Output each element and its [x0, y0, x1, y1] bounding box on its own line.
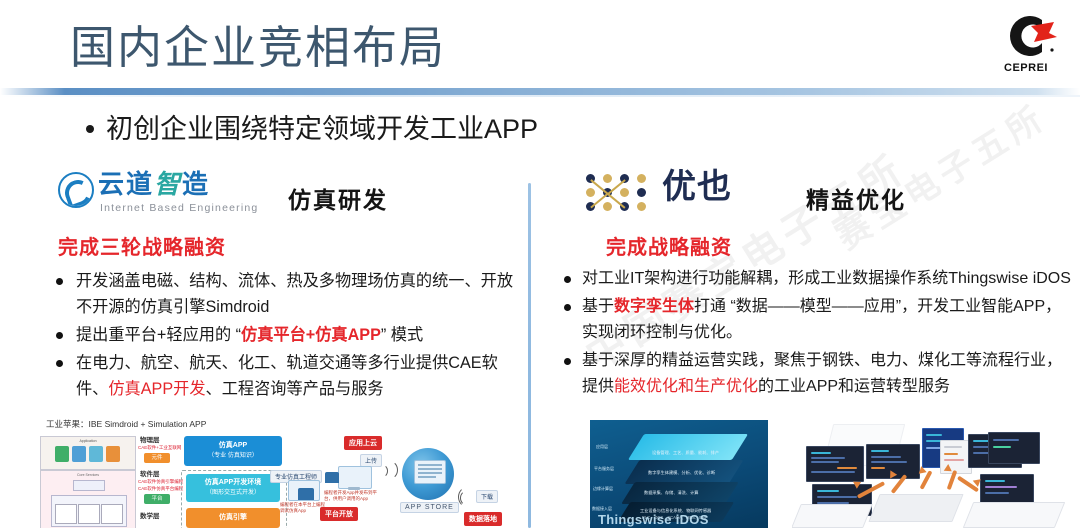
bullet-text: ” 模式: [381, 326, 423, 344]
simdroid-layer-label: 数学层: [140, 510, 160, 520]
dash-base-plate: [868, 494, 963, 522]
cloud-globe-screen: [414, 460, 446, 484]
dash-base-plate: [792, 504, 873, 528]
right-funding-label: 完成战略融资: [606, 231, 732, 260]
simdroid-box-sub: （图形交互式开发）: [206, 489, 260, 498]
yundao-wordmark: 云道智造: [98, 170, 210, 200]
yundao-tagline: Internet Based Engineering: [100, 202, 258, 214]
yundao-name-part3: 造: [182, 170, 210, 200]
cloud-laptop: [325, 472, 339, 483]
cloud-label-appstore: APP STORE: [400, 502, 459, 513]
highlight-text: 仿真APP开发: [108, 380, 205, 398]
bullet-text: 的工业APP和运营转型服务: [758, 378, 950, 395]
app-chip: [55, 446, 69, 462]
simdroid-box-engine: 仿真引擎: [186, 508, 280, 528]
flow-arrow-icon: [944, 464, 952, 472]
logo-dot: [603, 202, 612, 211]
figure-idos-stack: 应用层 平台服务层 边缘计算层 数据接入层 设备管理、工艺、质量、能耗、排产 数…: [590, 420, 768, 528]
simdroid-chip-component: 元件: [144, 453, 170, 463]
simdroid-core-panel: Core Services: [40, 470, 136, 528]
bullet-dot-icon: [86, 125, 94, 133]
page-title: 国内企业竞相布局: [70, 18, 446, 78]
simdroid-box-devenv: 仿真APP开发环境 （图形交互式开发）: [186, 474, 280, 502]
highlight-text: 数字孪生体: [614, 298, 694, 315]
simdroid-note: CAE软件仿真引擎编程: [138, 479, 183, 485]
lead-bullet-text: 初创企业围绕特定领域开发工业APP: [106, 114, 538, 144]
bullet-item: 对工业IT架构进行功能解耦，形成工业数据操作系统Thingswise iDOS: [556, 266, 1074, 292]
logo-dot: [637, 202, 646, 211]
simdroid-note: CAE软件+工业互联网: [138, 445, 181, 451]
cloud-monitor: [338, 466, 372, 489]
youye-logo: 优也: [584, 168, 774, 216]
bullet-text: 提出重平台+轻应用的 “: [76, 326, 241, 344]
simdroid-layer-label: 软件层: [140, 468, 160, 478]
dot-grid-icon: [584, 172, 656, 212]
logo-dot: [637, 188, 646, 197]
simdroid-layer-label: 物理层: [140, 434, 160, 444]
ceprei-wordmark: CEPREI: [990, 62, 1062, 74]
simdroid-box-sub: （专业 仿真知识）: [208, 452, 258, 461]
simdroid-box-title: 仿真APP: [219, 441, 247, 452]
highlight-text: 仿真平台+仿真APP: [241, 326, 381, 344]
idos-layer-items: 数据采集、存储、清洗、计算: [644, 490, 698, 496]
right-column: 优也 精益优化 完成战略融资 对工业IT架构进行功能解耦，形成工业数据操作系统T…: [556, 168, 1074, 222]
idos-layer-1: [628, 434, 748, 460]
left-funding-label: 完成三轮战略融资: [58, 231, 226, 260]
youye-wordmark: 优也: [662, 164, 732, 210]
bullet-item: 提出重平台+轻应用的 “仿真平台+仿真APP” 模式: [48, 322, 518, 348]
yundao-name-part2: 智: [154, 170, 182, 200]
logo-dot: [620, 188, 629, 197]
idos-caption: Thingswise iDOS: [598, 512, 709, 527]
bullet-item: 开发涵盖电磁、结构、流体、热及多物理场仿真的统一、开放不开源的仿真引擎Simdr…: [48, 268, 518, 320]
app-chip: [106, 446, 120, 462]
slide-root: 中国赛宝电子五所 赛宝电子五所 国内企业竞相布局 CEPREI 初创企业围绕特定…: [0, 0, 1080, 528]
bullet-text: 对工业IT架构进行功能解耦，形成工业数据操作系统Thingswise iDOS: [582, 270, 1071, 287]
bullet-text: 、工程咨询等产品与服务: [206, 380, 384, 398]
bullet-text: 开发涵盖电磁、结构、流体、热及多物理场仿真的统一、开放不开源的仿真引擎Simdr…: [76, 272, 513, 316]
right-brand-row: 优也 精益优化: [556, 168, 1074, 222]
cloud-tag-landing: 数据落地: [464, 512, 502, 526]
cloud-note-top: 编程者开发App并发布到平台，供用户调用的App: [324, 490, 382, 502]
cloud-laptop-secondary: [298, 488, 314, 500]
yundao-logo: 云道智造 Internet Based Engineering: [58, 170, 243, 220]
simdroid-box-title: 仿真引擎: [219, 513, 247, 524]
lead-bullet: 初创企业围绕特定领域开发工业APP: [86, 112, 538, 146]
cloud-tag-download-small: 下载: [476, 490, 498, 503]
logo-dot: [637, 174, 646, 183]
logo-dot: [586, 188, 595, 197]
app-chip: [89, 446, 103, 462]
figure-simdroid-architecture: 工业苹果：IBE Simdroid + Simulation APP Appli…: [40, 418, 288, 528]
right-heading: 精益优化: [806, 181, 906, 215]
simdroid-app-panel: Application: [40, 436, 136, 470]
ceprei-mark-icon: [990, 8, 1062, 64]
app-chip: [72, 446, 86, 462]
dashboard-card: [806, 446, 864, 482]
simdroid-box-title: 仿真APP开发环境: [205, 478, 261, 489]
simdroid-note: CAE软件仿真平台编程: [138, 486, 183, 492]
idos-layer-label: 平台服务层: [594, 466, 614, 472]
signal-wave-icon: [378, 460, 398, 480]
bullet-item: 基于深厚的精益运营实践，聚焦于钢铁、电力、煤化工等流程行业，提供能效优化和生产优…: [556, 348, 1074, 400]
cloud-tag-upload: 应用上云: [344, 436, 382, 450]
left-heading: 仿真研发: [288, 181, 388, 215]
idos-layer-items: 设备管理、工艺、质量、能耗、排产: [652, 450, 719, 456]
simdroid-chip-platform: 平台: [144, 494, 170, 504]
bullet-item: 在电力、航空、航天、化工、轨道交通等多行业提供CAE软件、仿真APP开发、工程咨…: [48, 350, 518, 402]
dashboard-card: [988, 432, 1040, 464]
highlight-text: 能效优化和生产优化: [614, 378, 758, 395]
idos-layer-label: 应用层: [596, 444, 608, 450]
dash-base-plate: [963, 502, 1066, 528]
idos-layer-label: 边缘计算层: [593, 486, 613, 492]
flow-arrow-icon: [917, 465, 926, 474]
idos-layer-items: 数字孪生体建模、分析、优化、诊断: [648, 470, 715, 476]
figure-cloud-appstore: 应用上云 上传 专业仿真工程师 编程者开发App并发布到平台，供用户调用的App…: [268, 428, 520, 528]
swirl-icon: [58, 172, 94, 208]
bullet-text: 基于: [582, 298, 614, 315]
left-brand-row: 云道智造 Internet Based Engineering 仿真研发: [48, 168, 518, 222]
title-rule-secondary: [0, 95, 1080, 97]
title-rule: [0, 88, 1080, 95]
left-column: 云道智造 Internet Based Engineering 仿真研发 完成三…: [48, 168, 518, 222]
right-bullet-list: 对工业IT架构进行功能解耦，形成工业数据操作系统Thingswise iDOS基…: [556, 266, 1074, 402]
column-divider: [528, 183, 531, 528]
yundao-name-part1: 云道: [98, 170, 154, 200]
simdroid-caption: 工业苹果：IBE Simdroid + Simulation APP: [46, 418, 206, 430]
figure-dashboard-montage: [792, 418, 1080, 528]
logo-dot: [603, 174, 612, 183]
cloud-tag-platform: 平台开放: [320, 507, 358, 521]
bullet-item: 基于数字孪生体打通 “数据——模型——应用”，开发工业智能APP，实现闭环控制与…: [556, 294, 1074, 346]
ceprei-logo: CEPREI: [990, 8, 1062, 84]
left-bullet-list: 开发涵盖电磁、结构、流体、热及多物理场仿真的统一、开放不开源的仿真引擎Simdr…: [48, 268, 518, 404]
